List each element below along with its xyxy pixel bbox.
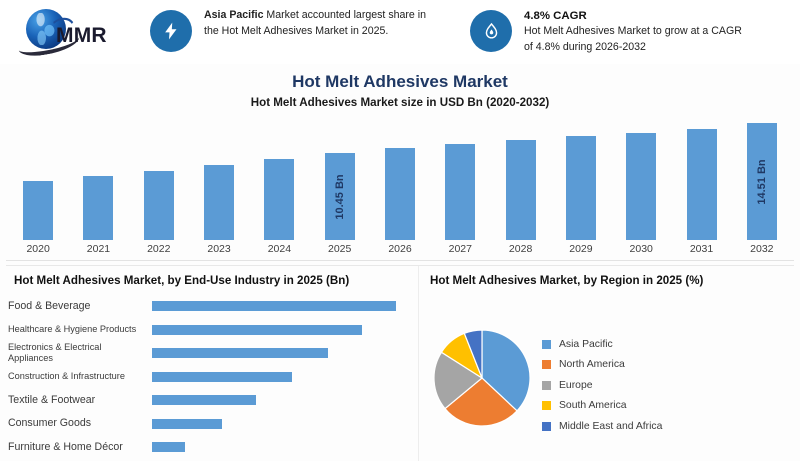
stat-cagr: 4.8% CAGR Hot Melt Adhesives Market to g…	[470, 8, 790, 58]
enduse-bar-fill	[152, 442, 185, 452]
stat-text-block: Asia Pacific Market accounted largest sh…	[204, 8, 426, 39]
column-x-tick-label: 2021	[68, 243, 128, 255]
enduse-bar-row: Textile & Footwear	[0, 388, 418, 412]
panel-vertical-divider	[418, 266, 419, 461]
column-x-tick-label: 2031	[672, 243, 732, 255]
column-bar-item	[672, 118, 732, 240]
enduse-bar-row: Furniture & Home Décor	[0, 435, 418, 459]
enduse-bar-fill	[152, 348, 328, 358]
column-bar	[566, 136, 596, 240]
header-bar: ⌒ MMR Asia Pacific Market accounted larg…	[0, 0, 800, 64]
column-x-tick-label: 2030	[611, 243, 671, 255]
column-bar-item	[129, 118, 189, 240]
column-bar-item: 14.51 Bn	[732, 118, 792, 240]
enduse-bar-track	[152, 365, 410, 389]
column-x-axis: 2020202120222023202420252026202720282029…	[8, 240, 792, 260]
legend-label: North America	[559, 359, 625, 370]
pie-legend-item: Asia Pacific	[542, 334, 662, 355]
enduse-category-label: Food & Beverage	[8, 294, 146, 318]
stat-line-2: of 4.8% during 2026-2032	[524, 40, 742, 56]
column-bar-value-label: 14.51 Bn	[756, 159, 768, 204]
bolt-icon	[150, 10, 192, 52]
infographic-root: ⌒ MMR Asia Pacific Market accounted larg…	[0, 0, 800, 461]
column-x-tick-label: 2023	[189, 243, 249, 255]
column-bar	[687, 129, 717, 240]
enduse-bar-track	[152, 341, 410, 365]
column-x-tick-label: 2027	[430, 243, 490, 255]
column-bar-item	[68, 118, 128, 240]
enduse-bar-fill	[152, 419, 222, 429]
column-bar: 14.51 Bn	[747, 123, 777, 240]
column-bar-value-label: 10.45 Bn	[334, 174, 346, 219]
pie-legend-item: Europe	[542, 375, 662, 396]
column-x-tick-label: 2024	[249, 243, 309, 255]
enduse-horizontal-bar-chart: Food & BeverageHealthcare & Hygiene Prod…	[0, 294, 418, 461]
panel-top-divider	[6, 265, 794, 266]
enduse-bar-row: Consumer Goods	[0, 412, 418, 436]
legend-swatch	[542, 422, 551, 431]
enduse-bar-row: Food & Beverage	[0, 294, 418, 318]
enduse-bar-fill	[152, 325, 362, 335]
stat-text-block: 4.8% CAGR Hot Melt Adhesives Market to g…	[524, 8, 742, 55]
enduse-category-label: Healthcare & Hygiene Products	[8, 318, 146, 342]
legend-label: Europe	[559, 380, 593, 391]
column-bar-item	[189, 118, 249, 240]
column-bar-item	[491, 118, 551, 240]
stat-heading: 4.8% CAGR	[524, 8, 742, 24]
column-bar	[385, 148, 415, 240]
pie-legend: Asia PacificNorth AmericaEuropeSouth Ame…	[542, 334, 662, 437]
column-bar	[144, 171, 174, 240]
column-bar	[23, 181, 53, 240]
enduse-bar-track	[152, 388, 410, 412]
column-bar	[626, 133, 656, 240]
column-bar	[264, 159, 294, 240]
pie-legend-item: Middle East and Africa	[542, 416, 662, 437]
enduse-bar-track	[152, 294, 410, 318]
enduse-bar-fill	[152, 395, 256, 405]
column-x-tick-label: 2020	[8, 243, 68, 255]
column-bar-item: 10.45 Bn	[310, 118, 370, 240]
enduse-bar-row: Electronics & Electrical Appliances	[0, 341, 418, 365]
logo-text: MMR	[56, 24, 107, 48]
enduse-bar-row: Construction & Infrastructure	[0, 365, 418, 389]
legend-label: Middle East and Africa	[559, 421, 662, 432]
column-x-tick-label: 2022	[129, 243, 189, 255]
column-bar-item	[249, 118, 309, 240]
legend-swatch	[542, 401, 551, 410]
stat-lead-text: Asia Pacific	[204, 9, 263, 21]
pie-svg	[432, 328, 532, 428]
stat-rest-text: Market accounted largest share in	[263, 9, 426, 21]
column-x-tick-label: 2032	[732, 243, 792, 255]
enduse-bar-row: Healthcare & Hygiene Products	[0, 318, 418, 342]
column-bar-item	[8, 118, 68, 240]
legend-swatch	[542, 381, 551, 390]
market-size-column-chart: 10.45 Bn14.51 Bn 20202021202220232024202…	[0, 118, 800, 260]
column-bar: 10.45 Bn	[325, 153, 355, 240]
column-bar-item	[551, 118, 611, 240]
stat-line-1: Asia Pacific Market accounted largest sh…	[204, 8, 426, 24]
column-bar-item	[430, 118, 490, 240]
enduse-bar-track	[152, 318, 410, 342]
legend-swatch	[542, 340, 551, 349]
column-x-tick-label: 2025	[310, 243, 370, 255]
legend-label: Asia Pacific	[559, 339, 613, 350]
legend-label: South America	[559, 400, 627, 411]
enduse-category-label: Construction & Infrastructure	[8, 365, 146, 389]
column-bar	[83, 176, 113, 240]
enduse-bar-track	[152, 412, 410, 436]
region-pie-chart: Asia PacificNorth AmericaEuropeSouth Ame…	[424, 300, 800, 460]
legend-swatch	[542, 360, 551, 369]
column-bar	[204, 165, 234, 240]
enduse-category-label: Furniture & Home Décor	[8, 435, 146, 459]
pie-legend-item: North America	[542, 355, 662, 376]
enduse-bar-fill	[152, 301, 396, 311]
stat-line-2: the Hot Melt Adhesives Market in 2025.	[204, 24, 426, 40]
axis-baseline	[6, 260, 794, 261]
pie-legend-item: South America	[542, 396, 662, 417]
page-title: Hot Melt Adhesives Market	[0, 72, 800, 92]
droplet-icon	[470, 10, 512, 52]
enduse-panel-title: Hot Melt Adhesives Market, by End-Use In…	[14, 274, 414, 287]
column-bar	[506, 140, 536, 240]
enduse-category-label: Textile & Footwear	[8, 388, 146, 412]
company-logo: ⌒ MMR	[18, 6, 138, 58]
column-plot-area: 10.45 Bn14.51 Bn	[8, 118, 792, 240]
enduse-bar-track	[152, 435, 410, 459]
region-panel-title: Hot Melt Adhesives Market, by Region in …	[430, 274, 790, 287]
page-subtitle: Hot Melt Adhesives Market size in USD Bn…	[0, 96, 800, 109]
enduse-category-label: Consumer Goods	[8, 412, 146, 436]
column-x-tick-label: 2029	[551, 243, 611, 255]
column-bar	[445, 144, 475, 240]
stat-line-1: Hot Melt Adhesives Market to grow at a C…	[524, 24, 742, 40]
column-bar-item	[370, 118, 430, 240]
stat-asia-pacific: Asia Pacific Market accounted largest sh…	[150, 8, 450, 58]
enduse-category-label: Electronics & Electrical Appliances	[8, 341, 146, 365]
column-bar-item	[611, 118, 671, 240]
enduse-bar-fill	[152, 372, 292, 382]
column-x-tick-label: 2026	[370, 243, 430, 255]
column-x-tick-label: 2028	[491, 243, 551, 255]
